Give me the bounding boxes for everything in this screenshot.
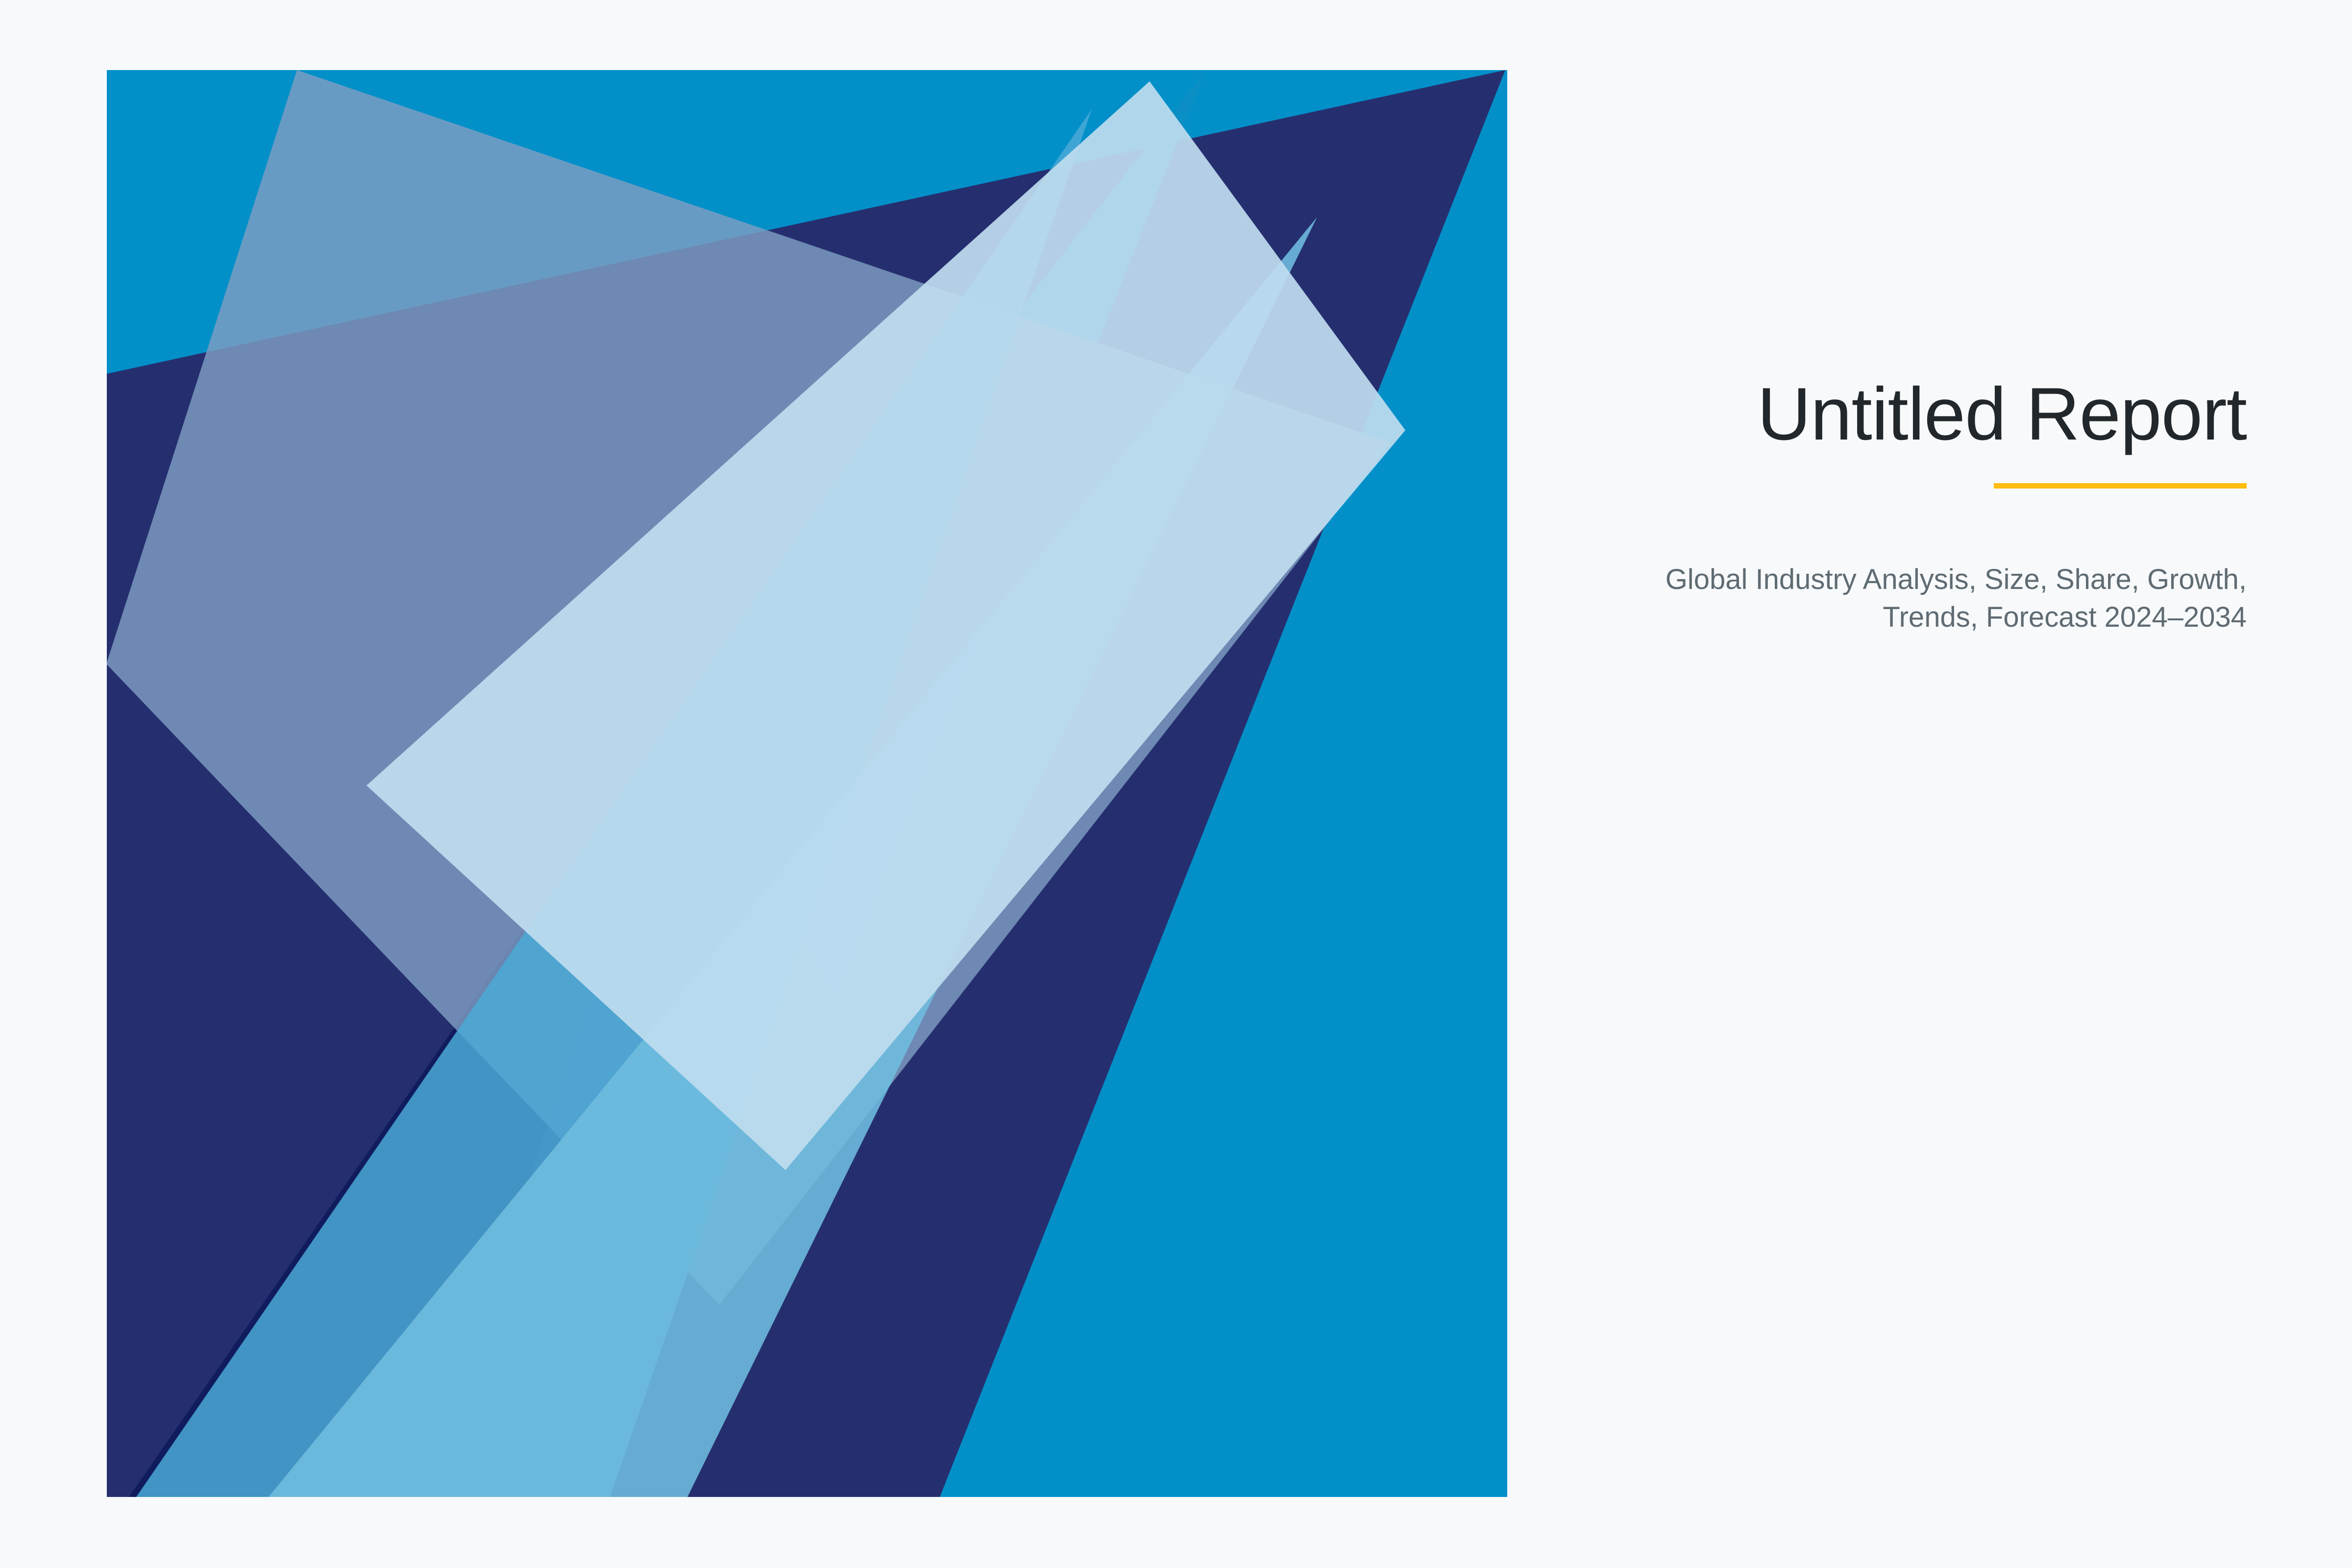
report-title: Untitled Report xyxy=(1592,372,2247,456)
title-accent-rule xyxy=(1994,483,2247,489)
cover-artwork xyxy=(107,70,1507,1497)
report-subtitle: Global Industry Analysis, Size, Share, G… xyxy=(1592,561,2247,636)
cover-artwork-svg xyxy=(107,70,1507,1497)
cover-title-block: Untitled Report Global Industry Analysis… xyxy=(1592,372,2247,636)
